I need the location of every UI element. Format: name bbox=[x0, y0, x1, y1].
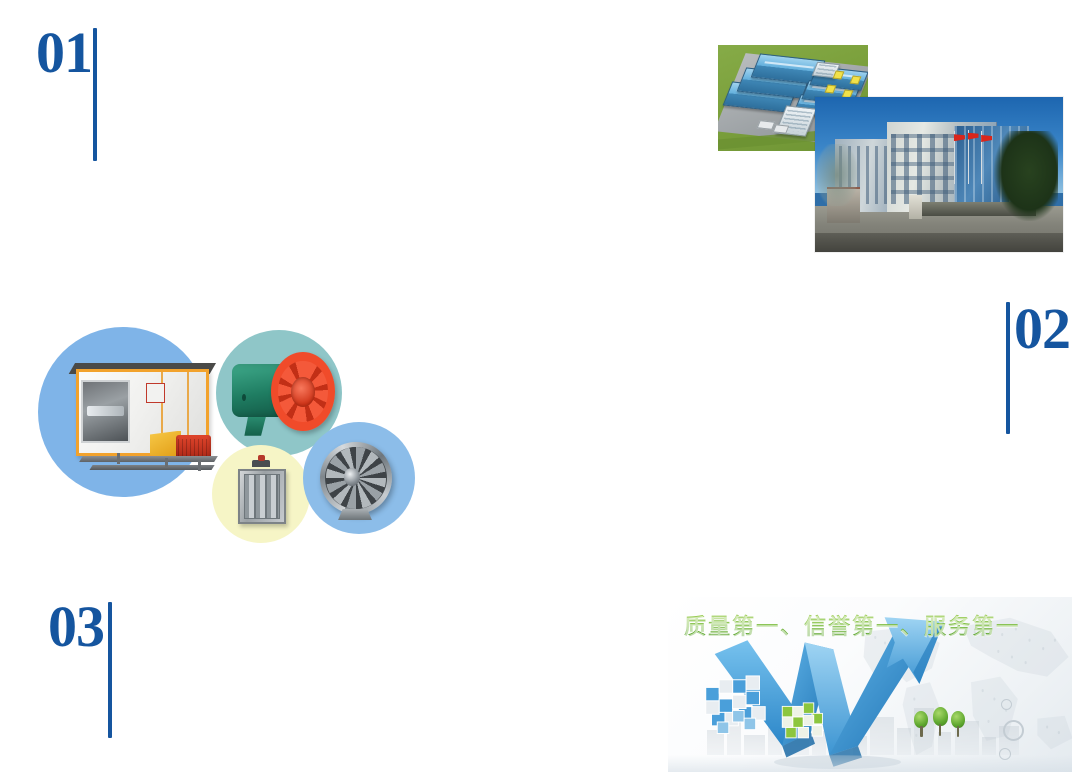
metal-fan-ring bbox=[320, 442, 392, 515]
cabinet-control-box bbox=[146, 383, 165, 403]
air-damper-unit bbox=[222, 452, 302, 536]
section-number-03: 03 bbox=[48, 598, 104, 656]
blue-cube-cluster bbox=[700, 667, 777, 741]
section-rule-01 bbox=[93, 28, 97, 161]
photo-right-tree bbox=[994, 131, 1058, 221]
commitment-banner: 质量第一、信誉第一、服务第一 bbox=[668, 597, 1072, 772]
cabinet-base-rail bbox=[89, 465, 214, 470]
tree-trunk bbox=[957, 726, 959, 737]
tree-trunk bbox=[920, 726, 922, 737]
factory-truck bbox=[757, 120, 776, 130]
tree-canopy bbox=[933, 707, 948, 725]
cabinet-centrifugal-fan bbox=[50, 345, 235, 495]
cabinet-leg bbox=[117, 453, 120, 464]
photo-left-tree bbox=[817, 144, 857, 206]
tree-icon bbox=[951, 711, 965, 737]
tree-canopy bbox=[951, 711, 965, 728]
office-building-photo bbox=[815, 97, 1063, 252]
photo-foreground-shadow bbox=[815, 233, 1063, 252]
damper-actuator bbox=[252, 460, 270, 468]
cabinet-leg bbox=[198, 461, 201, 472]
axial-fan-impeller bbox=[271, 352, 334, 431]
cabinet-inlet bbox=[81, 380, 129, 443]
green-cube-cluster bbox=[777, 695, 830, 748]
tree-icon bbox=[933, 707, 948, 735]
section-rule-03 bbox=[108, 602, 112, 738]
banner-floor-gradient bbox=[668, 755, 1072, 772]
banner-title: 质量第一、信誉第一、服务第一 bbox=[684, 609, 1020, 641]
tree-canopy bbox=[914, 711, 928, 728]
metal-fan-foot bbox=[338, 509, 372, 521]
page-root: 01 bbox=[0, 0, 1074, 772]
cabinet-leg bbox=[165, 458, 168, 469]
tree-icon bbox=[914, 711, 928, 737]
bubble-circle-large bbox=[1003, 720, 1024, 741]
metal-axial-fan bbox=[310, 430, 410, 526]
axial-fan-foot bbox=[244, 415, 266, 436]
section-rule-02 bbox=[1006, 302, 1010, 434]
photo-gate-post bbox=[909, 195, 921, 220]
section-number-02: 02 bbox=[1014, 300, 1070, 358]
section-number-01: 01 bbox=[36, 24, 92, 82]
damper-frame bbox=[238, 469, 286, 524]
bubble-circle-small bbox=[1001, 699, 1012, 710]
tree-trunk bbox=[939, 724, 941, 736]
